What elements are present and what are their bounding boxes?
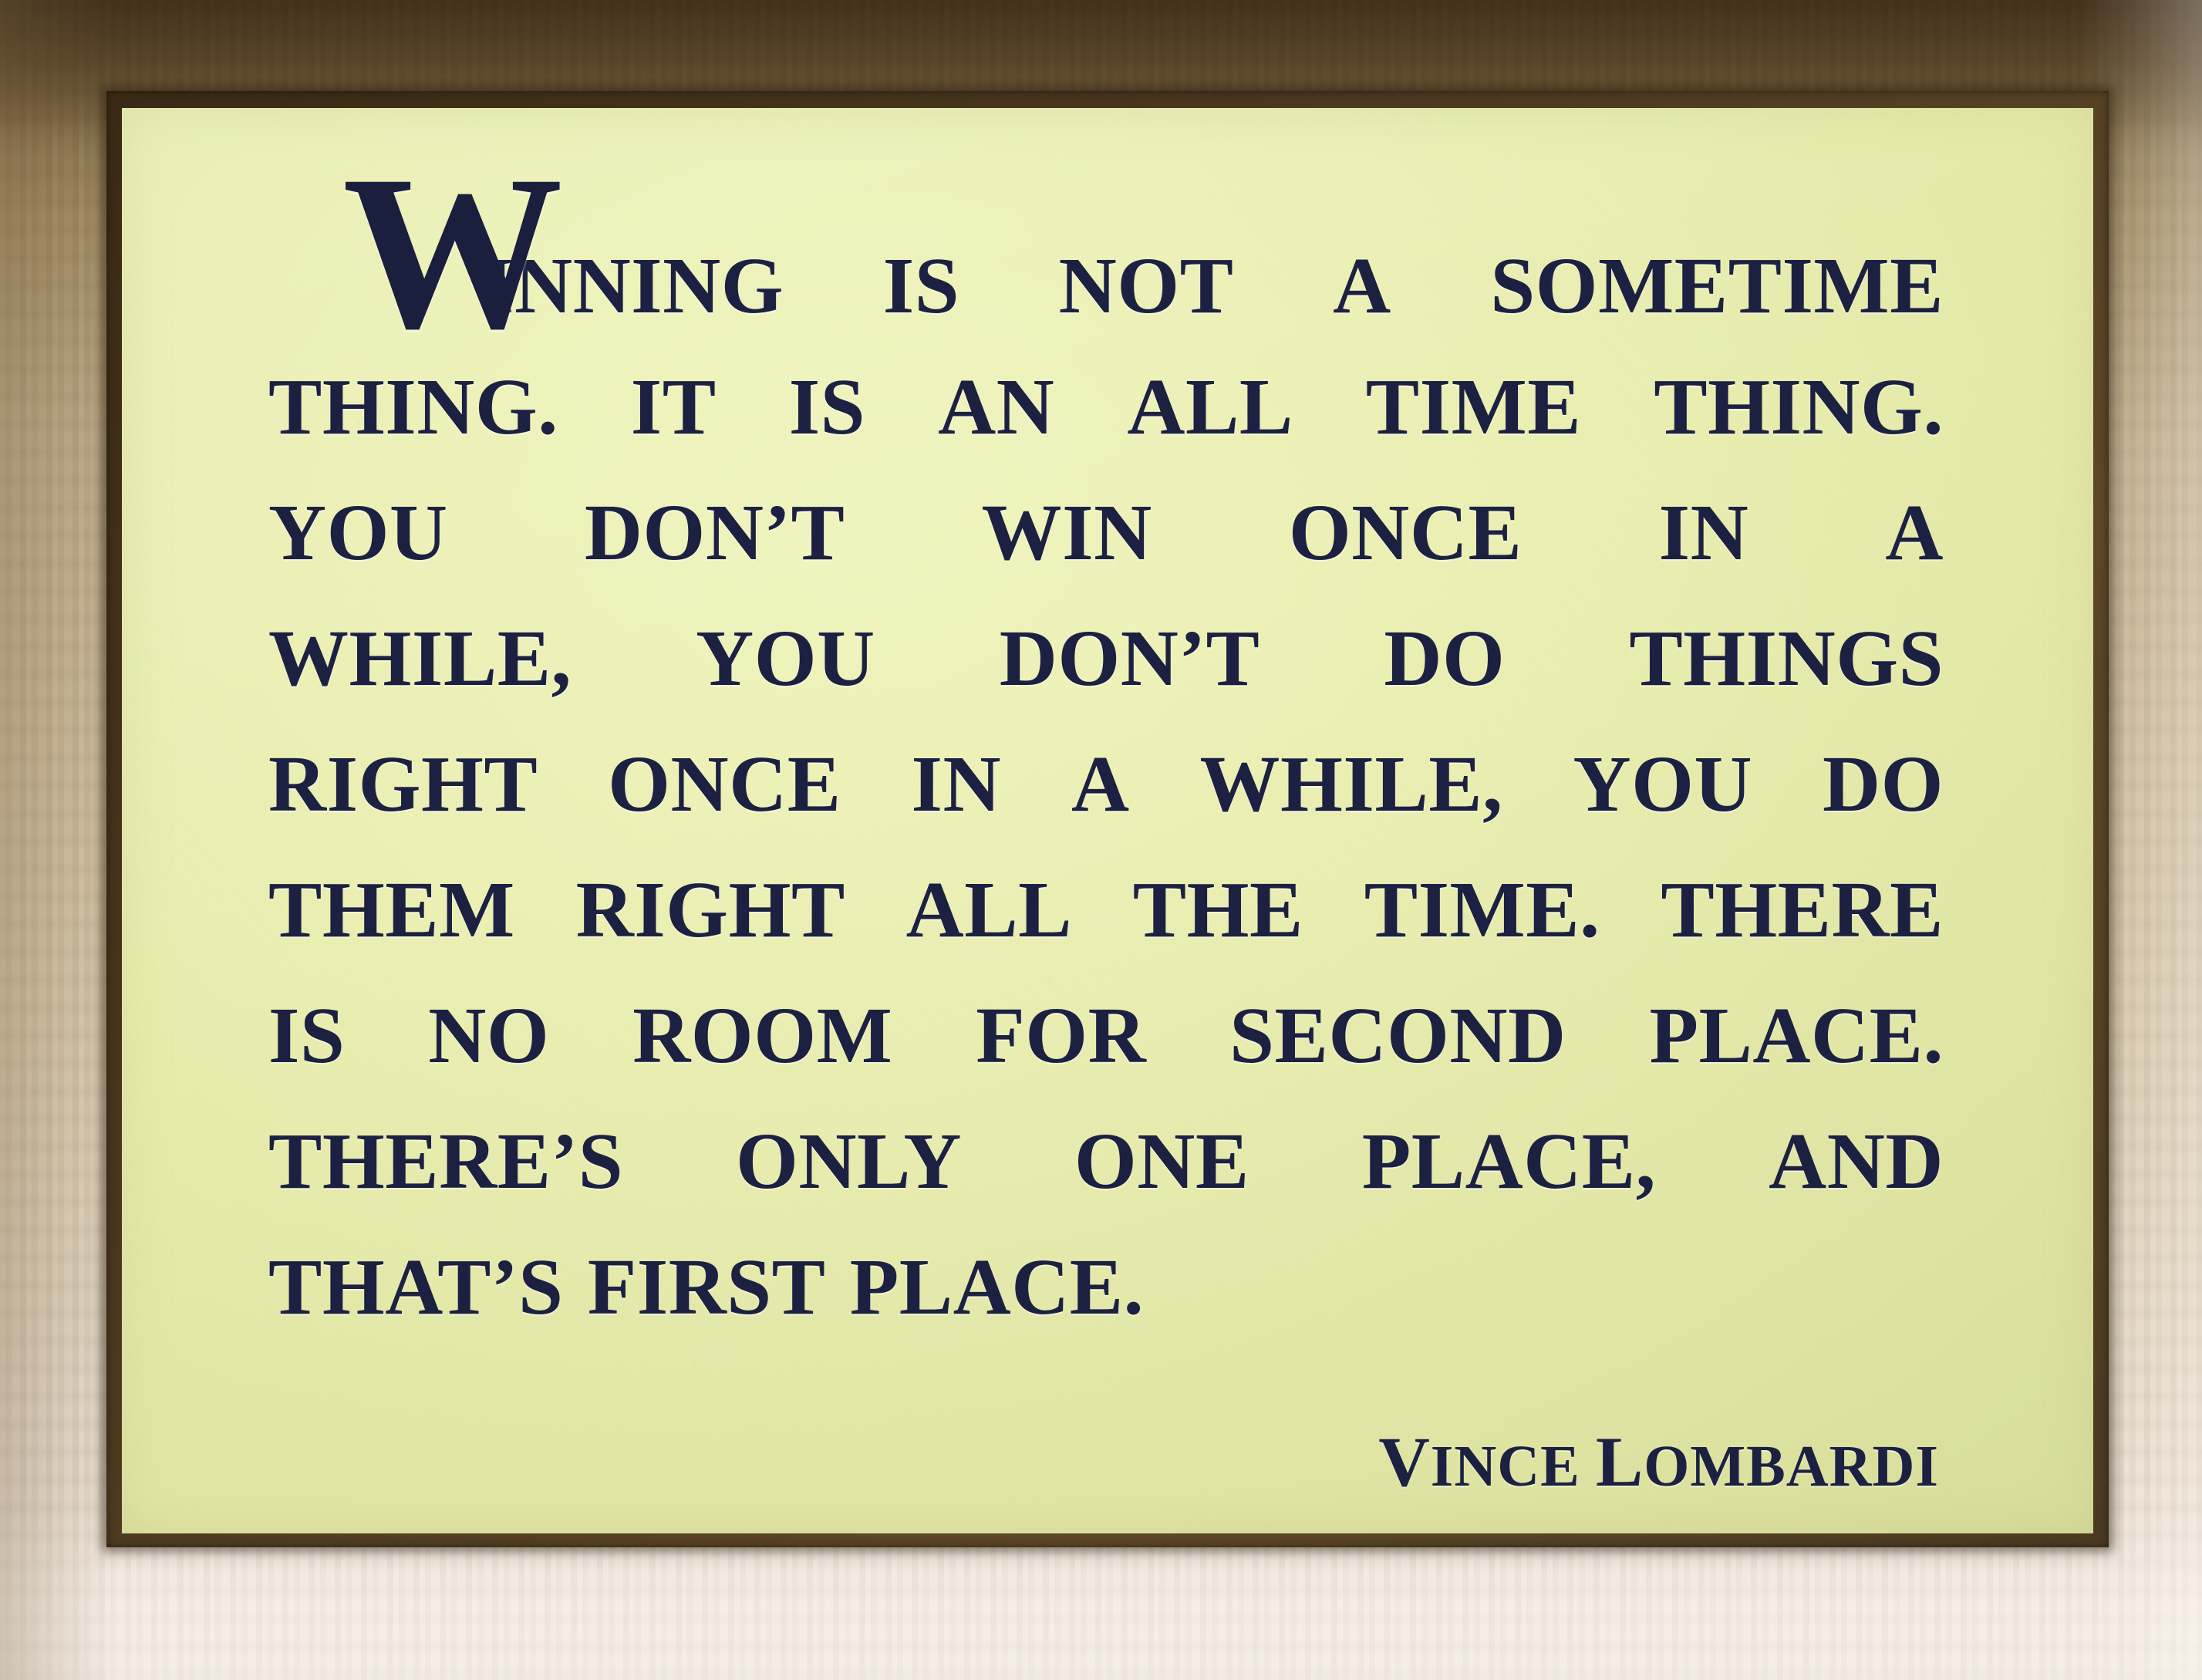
quote-word: NOT bbox=[1059, 228, 1234, 344]
quote-word: IS bbox=[268, 973, 345, 1098]
quote-word: ALL bbox=[1127, 344, 1293, 470]
quote-word: IS bbox=[789, 344, 865, 470]
quote-word: A bbox=[1885, 470, 1944, 595]
quote-word: RIGHT bbox=[268, 721, 538, 847]
frame-left-rail-shadow bbox=[0, 0, 116, 1680]
quote-word: WIN bbox=[982, 470, 1152, 595]
quote-word: YOU bbox=[1573, 721, 1752, 847]
quote-word: IN bbox=[1659, 470, 1749, 595]
quote-word: ONLY bbox=[736, 1098, 962, 1224]
quote-word: PLACE. bbox=[1650, 973, 1944, 1098]
quote-word: IT bbox=[631, 344, 717, 470]
quote-word: SOMETIME bbox=[1490, 228, 1944, 344]
quote-word: ROOM bbox=[632, 973, 892, 1098]
quote-word: THEM bbox=[268, 847, 515, 973]
quote-word: ONCE bbox=[1289, 470, 1522, 595]
framed-quote-plaque: W INNING IS NOT A SOMETIME THING. IT IS … bbox=[0, 0, 2202, 1680]
quote-word: PLACE, bbox=[1362, 1098, 1656, 1224]
quote-word: THING. bbox=[1654, 344, 1944, 470]
quote-word: THINGS bbox=[1629, 595, 1944, 721]
quote-word: THERE bbox=[1661, 847, 1944, 973]
quote-word: WHILE, bbox=[268, 595, 572, 721]
quote-word: WHILE, bbox=[1199, 721, 1502, 847]
quote-word: DO bbox=[1384, 595, 1505, 721]
attribution-last-name: OMBARDI bbox=[1644, 1434, 1939, 1499]
quote-word: NO bbox=[428, 973, 549, 1098]
quote-word: SECOND bbox=[1229, 973, 1566, 1098]
quote-line: THEM RIGHT ALL THE TIME. THERE bbox=[268, 847, 1944, 973]
quote-word: RIGHT bbox=[576, 847, 845, 973]
quote-line: YOU DON’T WIN ONCE IN A bbox=[268, 470, 1944, 595]
attribution-first-name: INCE bbox=[1431, 1434, 1580, 1499]
quote-line: IS NO ROOM FOR SECOND PLACE. bbox=[268, 973, 1944, 1098]
quote-word: IS bbox=[883, 228, 959, 344]
drop-cap-letter: W bbox=[342, 142, 563, 363]
quote-word: THE bbox=[1133, 847, 1303, 973]
quote-word: THERE’S bbox=[268, 1098, 623, 1224]
quote-line: W INNING IS NOT A SOMETIME bbox=[268, 228, 1944, 344]
quote-word: A bbox=[1071, 721, 1130, 847]
quote-word: AND bbox=[1769, 1098, 1944, 1224]
quote-word: A bbox=[1333, 228, 1391, 344]
quote-word: PLACE. bbox=[850, 1224, 1144, 1350]
quote-word: FIRST bbox=[588, 1224, 826, 1350]
quote-word: ONCE bbox=[608, 721, 841, 847]
quote-word: ONE bbox=[1074, 1098, 1249, 1224]
quote-word: YOU bbox=[696, 595, 875, 721]
quote-line: WHILE, YOU DON’T DO THINGS bbox=[268, 595, 1944, 721]
quote-text-block: W INNING IS NOT A SOMETIME THING. IT IS … bbox=[268, 127, 1944, 1498]
quote-word: IN bbox=[912, 721, 1002, 847]
attribution-last-initial: L bbox=[1596, 1422, 1644, 1501]
quote-word: YOU bbox=[268, 470, 448, 595]
quote-word: FOR bbox=[976, 973, 1146, 1098]
quote-word: DON’T bbox=[585, 470, 845, 595]
quote-word: AN bbox=[938, 344, 1054, 470]
quote-word: TIME. bbox=[1364, 847, 1600, 973]
quote-word: DON’T bbox=[1000, 595, 1260, 721]
attribution-first-initial: V bbox=[1378, 1422, 1430, 1501]
quote-word: ALL bbox=[906, 847, 1072, 973]
quote-attribution: VINCE LOMBARDI bbox=[268, 1430, 1944, 1498]
quote-line: THERE’S ONLY ONE PLACE, AND bbox=[268, 1098, 1944, 1224]
quote-line: RIGHT ONCE IN A WHILE, YOU DO bbox=[268, 721, 1944, 847]
quote-mat-board: W INNING IS NOT A SOMETIME THING. IT IS … bbox=[122, 108, 2093, 1533]
quote-word: TIME bbox=[1366, 344, 1581, 470]
quote-word: DO bbox=[1823, 721, 1944, 847]
quote-line: THAT’S FIRST PLACE. bbox=[268, 1224, 1944, 1350]
quote-word: THAT’S bbox=[268, 1224, 564, 1350]
